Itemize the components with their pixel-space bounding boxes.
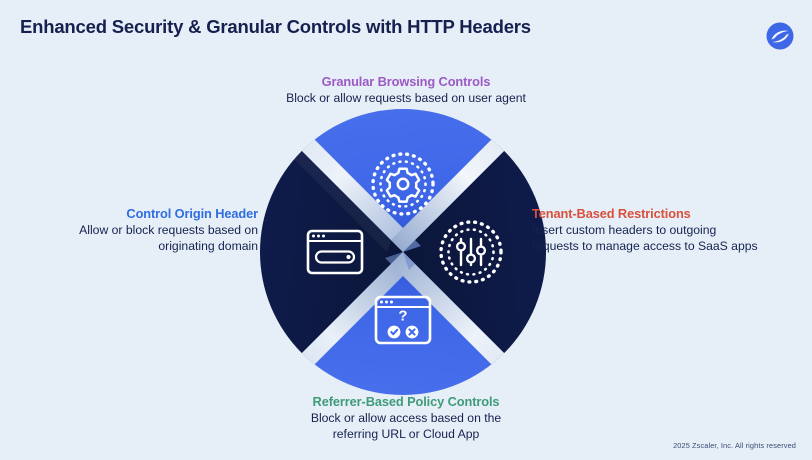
quadrant-label-bottom: Referrer-Based Policy Controls Block or … (206, 394, 606, 442)
page-title: Enhanced Security & Granular Controls wi… (20, 16, 531, 38)
quadrant-title-right: Tenant-Based Restrictions (532, 206, 800, 221)
copyright-text: 2025 Zscaler, Inc. All rights reserved (673, 441, 796, 450)
quadrant-desc-right-line2: requests to manage access to SaaS apps (532, 238, 800, 254)
zscaler-logo-icon (762, 18, 798, 54)
quadrant-desc-bottom-line1: Block or allow access based on the (206, 410, 606, 426)
quadrant-desc-bottom-line2: referring URL or Cloud App (206, 426, 606, 442)
svg-text:?: ? (398, 308, 407, 325)
quadrant-label-right: Tenant-Based Restrictions Insert custom … (532, 206, 800, 254)
quadrant-diagram: ? (259, 108, 547, 396)
quadrant-label-left: Control Origin Header Allow or block req… (10, 206, 258, 254)
quadrant-title-bottom: Referrer-Based Policy Controls (206, 394, 606, 409)
quadrant-desc-right-line1: Insert custom headers to outgoing (532, 222, 800, 238)
quadrant-desc-top: Block or allow requests based on user ag… (206, 90, 606, 106)
quadrant-title-left: Control Origin Header (10, 206, 258, 221)
quadrant-title-top: Granular Browsing Controls (206, 74, 606, 89)
quadrant-label-top: Granular Browsing Controls Block or allo… (206, 74, 606, 106)
quadrant-desc-left-line2: originating domain (10, 238, 258, 254)
quadrant-desc-left-line1: Allow or block requests based on (10, 222, 258, 238)
